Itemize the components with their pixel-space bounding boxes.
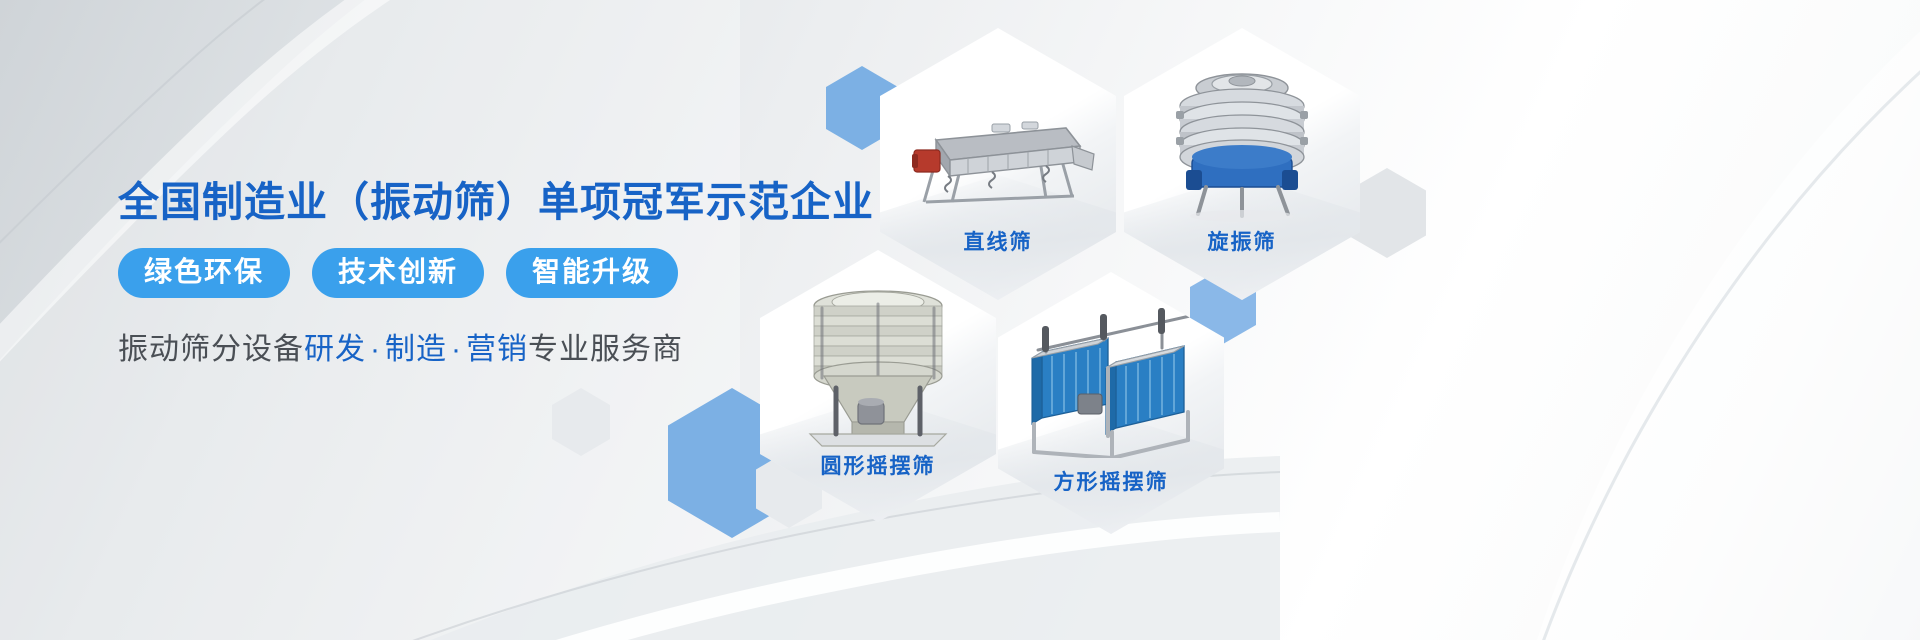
subtitle-tail: 专业服务商: [528, 333, 683, 366]
subtitle-separator-2: ·: [447, 333, 466, 366]
banner-subtitle: 振动筛分设备研发·制造·营销专业服务商: [118, 324, 978, 368]
subtitle-highlight-rd: 研发: [304, 333, 366, 366]
product-image-rotary-screen: [1158, 58, 1326, 224]
product-label-rotary-screen: 旋振筛: [1124, 226, 1360, 256]
page-title: 全国制造业（振动筛）单项冠军示范企业: [118, 178, 978, 226]
product-image-square-swing-screen: [1012, 308, 1210, 458]
subtitle-highlight-manufacture: 制造: [385, 333, 447, 366]
subtitle-lead: 振动筛分设备: [118, 333, 304, 366]
promo-banner: 直线筛: [0, 0, 1920, 640]
subtitle-highlight-marketing: 营销: [466, 333, 528, 366]
product-card-rotary-screen[interactable]: 旋振筛: [1124, 28, 1360, 300]
hexagon-decoration-grey-left: [552, 388, 610, 456]
banner-copy: 全国制造业（振动筛）单项冠军示范企业 绿色环保 技术创新 智能升级 振动筛分设备…: [118, 178, 978, 368]
badge-green-environment[interactable]: 绿色环保: [118, 248, 290, 298]
subtitle-separator-1: ·: [366, 333, 385, 366]
badge-smart-upgrade[interactable]: 智能升级: [506, 248, 678, 298]
product-label-square-swing-screen: 方形摇摆筛: [998, 466, 1224, 496]
badge-tech-innovation[interactable]: 技术创新: [312, 248, 484, 298]
feature-badge-list: 绿色环保 技术创新 智能升级: [118, 248, 978, 298]
